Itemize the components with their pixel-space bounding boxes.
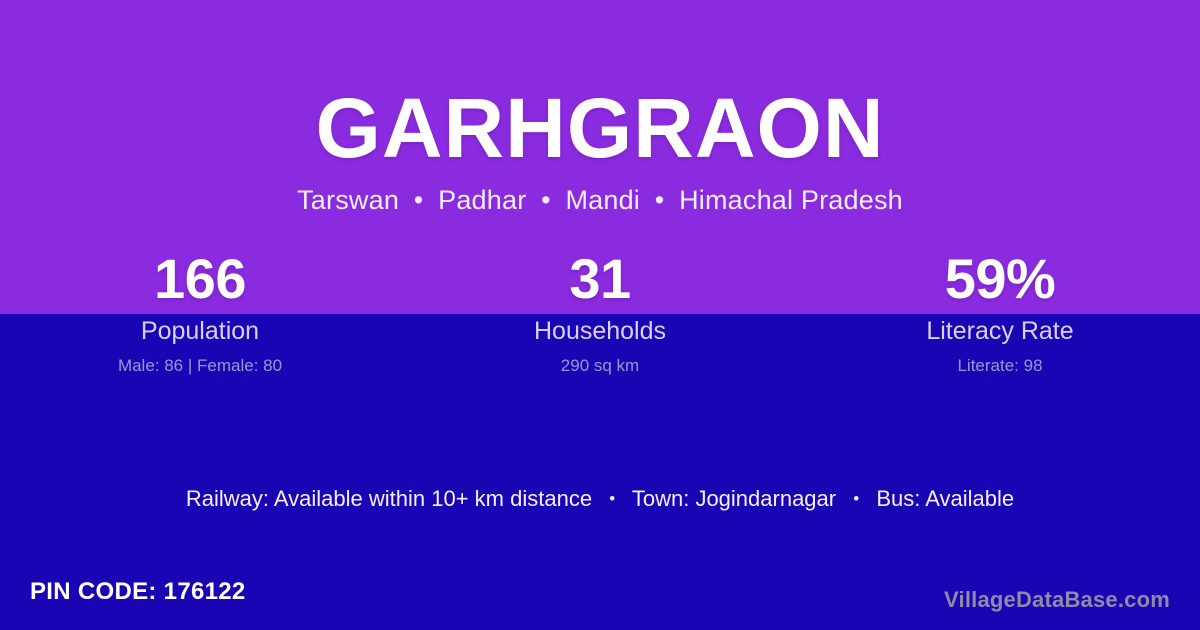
page-title: GARHGRAON	[0, 82, 1200, 174]
breadcrumb-separator-icon: •	[534, 185, 558, 215]
breadcrumb-item-block: Padhar	[438, 185, 526, 215]
stat-label-population: Population	[0, 316, 400, 346]
stat-value-households: 31	[400, 248, 800, 310]
breadcrumb-item-state: Himachal Pradesh	[679, 185, 903, 215]
stat-sub-literacy-rate: Literate: 98	[800, 355, 1200, 376]
stat-card-households: 31 Households 290 sq km	[400, 248, 800, 376]
stat-card-literacy-rate: 59% Literacy Rate Literate: 98	[800, 248, 1200, 376]
pin-code: PIN CODE: 176122	[30, 577, 246, 607]
breadcrumb-separator-icon: •	[648, 185, 672, 215]
stat-sub-population: Male: 86 | Female: 80	[0, 355, 400, 376]
amenity-bus: Bus: Available	[876, 486, 1014, 511]
amenity-separator-icon: •	[598, 489, 626, 508]
amenity-separator-icon: •	[842, 489, 870, 508]
stat-value-literacy-rate: 59%	[800, 248, 1200, 310]
amenities-line: Railway: Available within 10+ km distanc…	[0, 484, 1200, 514]
breadcrumb-item-district: Mandi	[565, 185, 640, 215]
stat-card-population: 166 Population Male: 86 | Female: 80	[0, 248, 400, 376]
breadcrumb: Tarswan • Padhar • Mandi • Himachal Prad…	[0, 183, 1200, 217]
stat-value-population: 166	[0, 248, 400, 310]
stat-label-households: Households	[400, 316, 800, 346]
breadcrumb-item-panchayat: Tarswan	[297, 185, 399, 215]
amenity-town: Town: Jogindarnagar	[632, 486, 836, 511]
site-brand: VillageDataBase.com	[944, 586, 1170, 614]
stat-sub-households: 290 sq km	[400, 355, 800, 376]
breadcrumb-separator-icon: •	[407, 185, 431, 215]
stat-label-literacy-rate: Literacy Rate	[800, 316, 1200, 346]
stats-row: 166 Population Male: 86 | Female: 80 31 …	[0, 248, 1200, 376]
amenity-railway: Railway: Available within 10+ km distanc…	[186, 486, 592, 511]
